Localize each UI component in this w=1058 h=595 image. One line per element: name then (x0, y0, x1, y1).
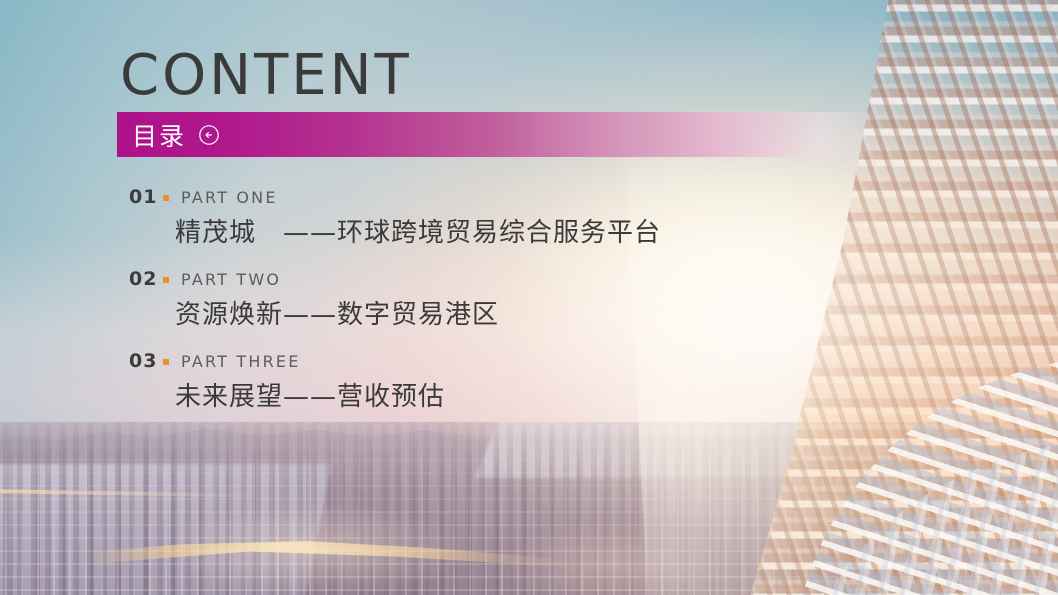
slide-root: CONTENT 目录 01 PART ONE 精茂城 ——环球跨境贸易综合服务平… (0, 0, 1058, 595)
toc-item-2-heading: 资源焕新——数字贸易港区 (175, 294, 949, 331)
toc-item-3-head: 03 PART THREE (129, 350, 949, 372)
toc-item-3[interactable]: 03 PART THREE 未来展望——营收预估 (129, 350, 949, 432)
square-bullet-icon (163, 195, 169, 201)
slide-content: CONTENT 目录 01 PART ONE 精茂城 ——环球跨境贸易综合服务平… (0, 0, 1058, 595)
toc-item-3-part-label: PART THREE (181, 352, 301, 371)
table-of-contents: 01 PART ONE 精茂城 ——环球跨境贸易综合服务平台 02 PART T… (129, 186, 949, 432)
title-bar-label-cn: 目录 (132, 117, 186, 153)
toc-item-2-number: 02 (129, 268, 163, 290)
title-bar: 目录 (117, 112, 880, 157)
circle-arrow-left-icon[interactable] (198, 124, 220, 146)
toc-item-2-part-label: PART TWO (181, 270, 281, 289)
toc-item-1[interactable]: 01 PART ONE 精茂城 ——环球跨境贸易综合服务平台 (129, 186, 949, 268)
toc-item-1-part-label: PART ONE (181, 188, 278, 207)
toc-item-3-heading: 未来展望——营收预估 (175, 376, 949, 413)
page-title: CONTENT (120, 48, 412, 104)
toc-item-1-heading: 精茂城 ——环球跨境贸易综合服务平台 (175, 212, 949, 249)
square-bullet-icon (163, 277, 169, 283)
toc-item-1-head: 01 PART ONE (129, 186, 949, 208)
toc-item-2-head: 02 PART TWO (129, 268, 949, 290)
toc-item-2[interactable]: 02 PART TWO 资源焕新——数字贸易港区 (129, 268, 949, 350)
toc-item-3-number: 03 (129, 350, 163, 372)
toc-item-1-number: 01 (129, 186, 163, 208)
square-bullet-icon (163, 359, 169, 365)
